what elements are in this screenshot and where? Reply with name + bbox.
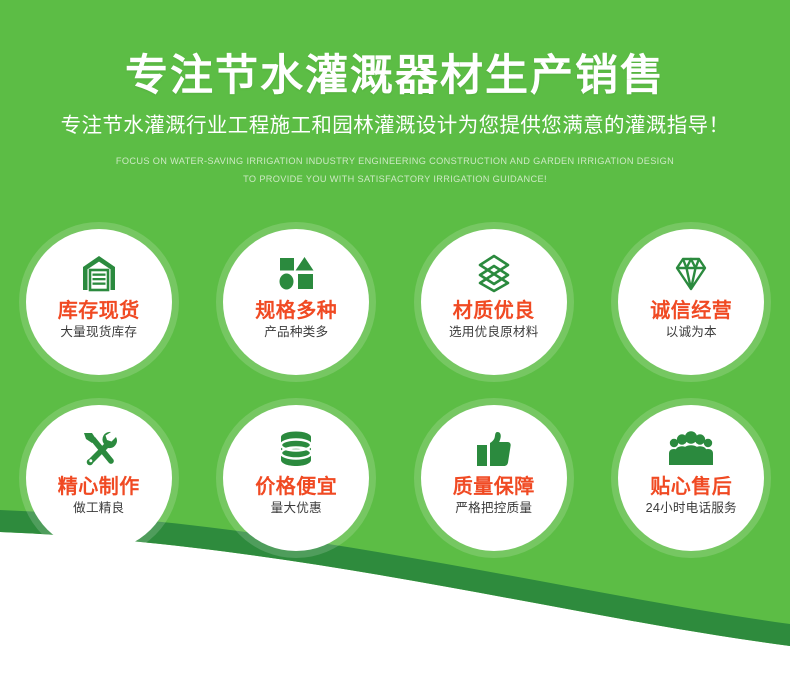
feature-disc: 贴心售后 24小时电话服务 [618,405,764,551]
feature-title: 诚信经营 [650,300,732,322]
feature-disc: 诚信经营 以诚为本 [618,229,764,375]
feature-disc: 材质优良 选用优良原材料 [421,229,567,375]
english-tagline-group: FOCUS ON WATER-SAVING IRRIGATION INDUSTR… [0,153,790,189]
feature-item[interactable]: 规格多种 产品种类多 [216,222,376,382]
feature-disc: 精心制作 做工精良 [26,405,172,551]
feature-item[interactable]: 质量保障 严格把控质量 [414,398,574,558]
banner-header: 专注节水灌溉器材生产销售 专注节水灌溉行业工程施工和园林灌溉设计为您提供您满意的… [0,0,790,189]
feature-item[interactable]: 价格便宜 量大优惠 [216,398,376,558]
english-tagline-line-1: FOCUS ON WATER-SAVING IRRIGATION INDUSTR… [0,153,790,171]
feature-item[interactable]: 贴心售后 24小时电话服务 [611,398,771,558]
promotional-banner: 专注节水灌溉器材生产销售 专注节水灌溉行业工程施工和园林灌溉设计为您提供您满意的… [0,0,790,676]
thumbs-up-icon [471,427,517,471]
feature-desc: 选用优良原材料 [449,325,539,339]
feature-title: 贴心售后 [650,476,732,498]
feature-desc: 24小时电话服务 [646,501,737,515]
shapes-icon [273,251,319,295]
feature-disc: 价格便宜 量大优惠 [223,405,369,551]
diamond-icon [668,251,714,295]
feature-title: 材质优良 [453,300,535,322]
banner-title: 专注节水灌溉器材生产销售 [0,52,790,100]
english-tagline-line-2: TO PROVIDE YOU WITH SATISFACTORY IRRIGAT… [0,171,790,189]
feature-desc: 产品种类多 [264,325,328,339]
tools-icon [76,427,122,471]
feature-disc: 规格多种 产品种类多 [223,229,369,375]
feature-disc: 质量保障 严格把控质量 [421,405,567,551]
feature-desc: 做工精良 [73,501,124,515]
feature-item[interactable]: 库存现货 大量现货库存 [19,222,179,382]
feature-title: 库存现货 [58,300,140,322]
feature-title: 价格便宜 [255,476,337,498]
feature-desc: 大量现货库存 [60,325,137,339]
people-group-icon [668,427,714,471]
feature-disc: 库存现货 大量现货库存 [26,229,172,375]
feature-desc: 量大优惠 [271,501,322,515]
banner-subtitle: 专注节水灌溉行业工程施工和园林灌溉设计为您提供您满意的灌溉指导！ [0,114,790,139]
feature-desc: 以诚为本 [666,325,717,339]
feature-item[interactable]: 诚信经营 以诚为本 [611,222,771,382]
warehouse-icon [76,251,122,295]
feature-grid: 库存现货 大量现货库存 规格多种 产品种类多 [0,222,790,574]
layers-icon [471,251,517,295]
feature-title: 质量保障 [453,476,535,498]
coin-stack-icon [273,427,319,471]
feature-title: 规格多种 [255,300,337,322]
feature-item[interactable]: 材质优良 选用优良原材料 [414,222,574,382]
feature-desc: 严格把控质量 [455,501,532,515]
feature-title: 精心制作 [58,476,140,498]
feature-item[interactable]: 精心制作 做工精良 [19,398,179,558]
